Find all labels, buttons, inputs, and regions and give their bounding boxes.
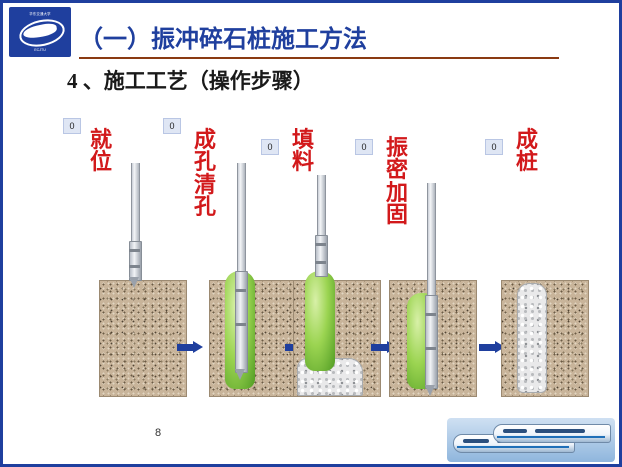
train-window-4 <box>535 429 585 433</box>
stage-label-4: 振密加固 <box>381 137 413 227</box>
probe-body-4 <box>425 295 438 389</box>
probe-rod-4 <box>427 183 436 298</box>
train-window-1 <box>463 439 489 443</box>
page-title: （一）振冲碎石桩施工方法 <box>79 19 367 54</box>
probe-tip-4 <box>425 385 435 396</box>
probe-ring-1a <box>129 249 140 252</box>
stage-badge-1: 0 <box>63 118 81 134</box>
university-logo: 华东交通大学 ECJTU <box>9 7 71 57</box>
stage-label-1: 就位 <box>85 129 117 174</box>
probe-rod-3 <box>317 175 326 237</box>
page-number: 8 <box>155 427 161 439</box>
train-illustration <box>447 404 615 462</box>
gravel-pile-5 <box>517 283 547 393</box>
probe-ring-4a <box>425 313 436 316</box>
stage-label-3: 填料 <box>287 129 319 174</box>
stage-badge-3: 0 <box>261 139 279 155</box>
probe-ring-2a <box>235 289 246 292</box>
stage-label-5: 成桩 <box>511 129 543 174</box>
probe-body-1 <box>129 241 142 281</box>
probe-body-2 <box>235 271 248 373</box>
slurry-column-3 <box>305 271 335 371</box>
stage-label-2: 成孔清孔 <box>189 129 221 219</box>
page-subtitle: 4 、施工工艺（操作步骤） <box>67 65 314 95</box>
probe-rod-2 <box>237 163 246 273</box>
stage-badge-2: 0 <box>163 118 181 134</box>
arrow-head <box>193 341 203 353</box>
logo-bottom-text: ECJTU <box>13 48 67 52</box>
arrow-shaft <box>177 344 194 351</box>
probe-ring-2b <box>235 323 246 326</box>
logo-graphic: 华东交通大学 ECJTU <box>13 11 67 53</box>
title-divider <box>79 57 559 59</box>
probe-ring-1b <box>129 265 140 268</box>
probe-ring-3b <box>315 261 326 264</box>
soil-block-1 <box>99 280 187 397</box>
train-stripe-1 <box>457 446 569 448</box>
arrow-shaft <box>479 344 496 351</box>
probe-rod-1 <box>131 163 140 243</box>
probe-tip-2 <box>235 369 245 380</box>
stage-badge-5: 0 <box>485 139 503 155</box>
train-car-2 <box>493 424 611 443</box>
probe-ring-3a <box>315 243 326 246</box>
stage-badge-4: 0 <box>355 139 373 155</box>
probe-ring-4b <box>425 347 436 350</box>
slide-root: 华东交通大学 ECJTU （一）振冲碎石桩施工方法 4 、施工工艺（操作步骤） … <box>0 0 622 467</box>
arrow-shaft <box>371 344 388 351</box>
probe-body-3 <box>315 235 328 277</box>
flow-arrow-1 <box>177 341 203 354</box>
logo-top-text: 华东交通大学 <box>13 11 67 16</box>
train-window-3 <box>503 429 527 433</box>
train-stripe-2 <box>497 436 605 438</box>
probe-tip-1 <box>129 277 139 288</box>
